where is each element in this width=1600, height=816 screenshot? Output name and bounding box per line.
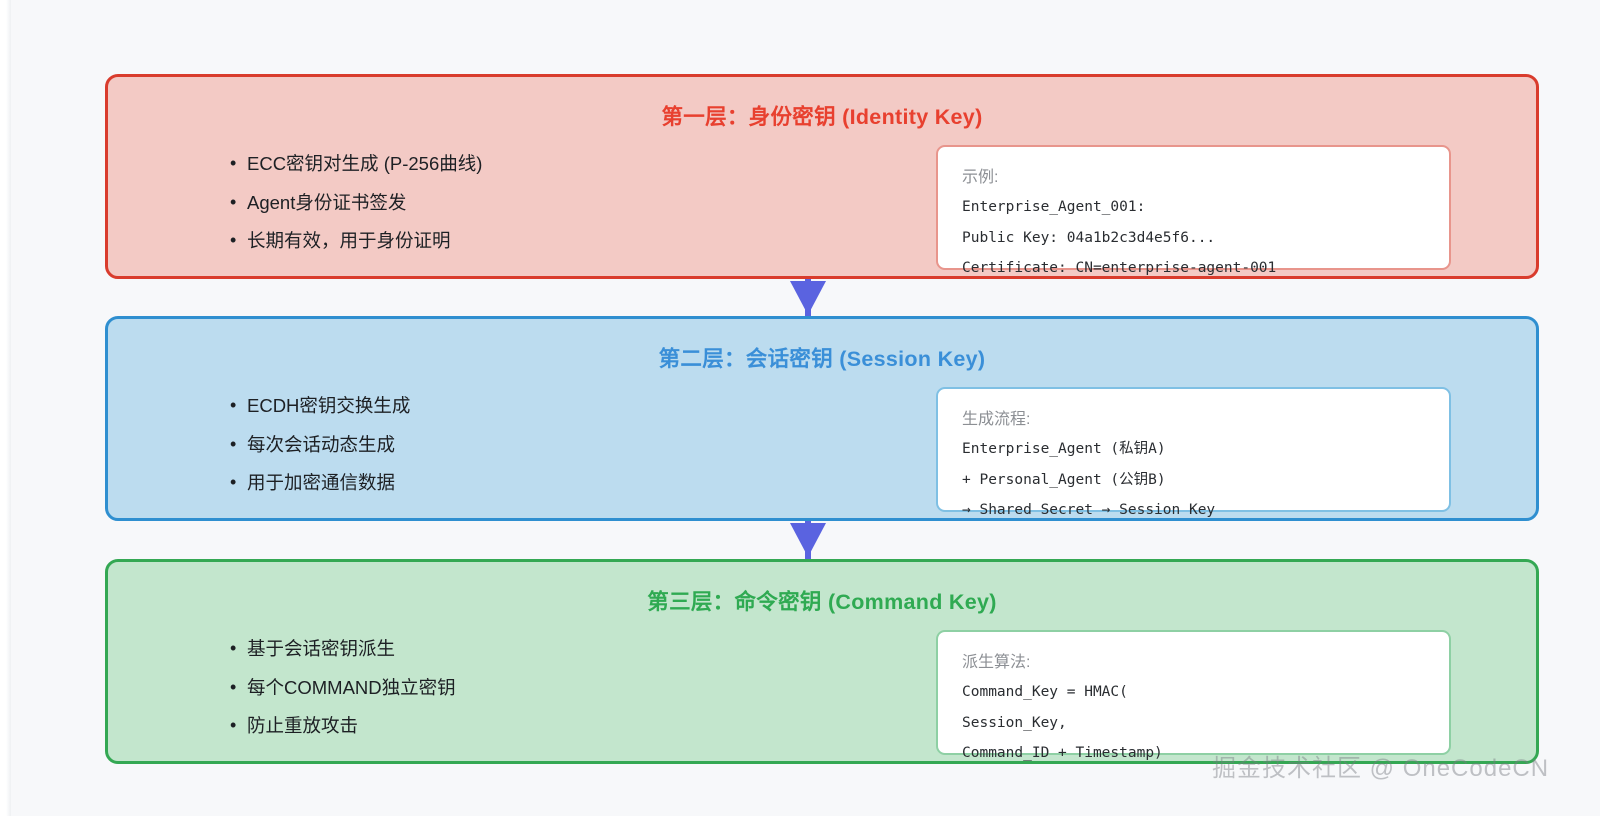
code-line: Public Key: 04a1b2c3d4e5f6... [962, 231, 1427, 246]
bullet-item: 用于加密通信数据 [230, 474, 410, 493]
arrow-head-icon [790, 523, 826, 557]
arrow-session-to-command [790, 521, 826, 559]
watermark: 掘金技术社区 @ OneCodeCN [1212, 748, 1549, 783]
layer-bullets-command-key: 基于会话密钥派生 每个COMMAND独立密钥 防止重放攻击 [230, 640, 456, 756]
bullet-item: ECC密钥对生成 (P-256曲线) [230, 155, 482, 174]
arrow-identity-to-session [790, 279, 826, 317]
code-panel-identity-key: 示例: Enterprise_Agent_001: Public Key: 04… [936, 145, 1451, 270]
bullet-item: 防止重放攻击 [230, 717, 456, 736]
diagram-canvas: 第一层：身份密钥 (Identity Key) ECC密钥对生成 (P-256曲… [0, 0, 1600, 816]
layer-title-session-key: 第二层：会话密钥 (Session Key) [108, 342, 1536, 373]
code-line: Enterprise_Agent_001: [962, 200, 1427, 215]
layer-title-identity-key: 第一层：身份密钥 (Identity Key) [108, 100, 1536, 131]
layer-card-session-key: 第二层：会话密钥 (Session Key) ECDH密钥交换生成 每次会话动态… [105, 316, 1539, 521]
code-line: Certificate: CN=enterprise-agent-001 [962, 261, 1427, 276]
bullet-item: 每个COMMAND独立密钥 [230, 679, 456, 698]
layer-card-identity-key: 第一层：身份密钥 (Identity Key) ECC密钥对生成 (P-256曲… [105, 74, 1539, 279]
page-left-edge [0, 0, 11, 816]
code-panel-title: 示例: [962, 163, 1427, 187]
bullet-item: 长期有效，用于身份证明 [230, 232, 482, 251]
code-line: Session_Key, [962, 716, 1427, 731]
bullet-item: 每次会话动态生成 [230, 436, 410, 455]
code-panel-command-key: 派生算法: Command_Key = HMAC( Session_Key, C… [936, 630, 1451, 755]
layer-bullets-session-key: ECDH密钥交换生成 每次会话动态生成 用于加密通信数据 [230, 397, 410, 513]
code-line: Enterprise_Agent (私钥A) [962, 442, 1427, 457]
arrow-head-icon [790, 281, 826, 315]
code-line: Command_Key = HMAC( [962, 685, 1427, 700]
bullet-item: ECDH密钥交换生成 [230, 397, 410, 416]
bullet-item: 基于会话密钥派生 [230, 640, 456, 659]
layer-title-command-key: 第三层：命令密钥 (Command Key) [108, 585, 1536, 616]
layer-bullets-identity-key: ECC密钥对生成 (P-256曲线) Agent身份证书签发 长期有效，用于身份… [230, 155, 482, 271]
code-panel-title: 生成流程: [962, 405, 1427, 429]
code-line: + Personal_Agent (公钥B) [962, 473, 1427, 488]
bullet-item: Agent身份证书签发 [230, 194, 482, 213]
code-line: → Shared Secret → Session Key [962, 503, 1427, 518]
code-panel-session-key: 生成流程: Enterprise_Agent (私钥A) + Personal_… [936, 387, 1451, 512]
code-panel-title: 派生算法: [962, 648, 1427, 672]
layer-card-command-key: 第三层：命令密钥 (Command Key) 基于会话密钥派生 每个COMMAN… [105, 559, 1539, 764]
